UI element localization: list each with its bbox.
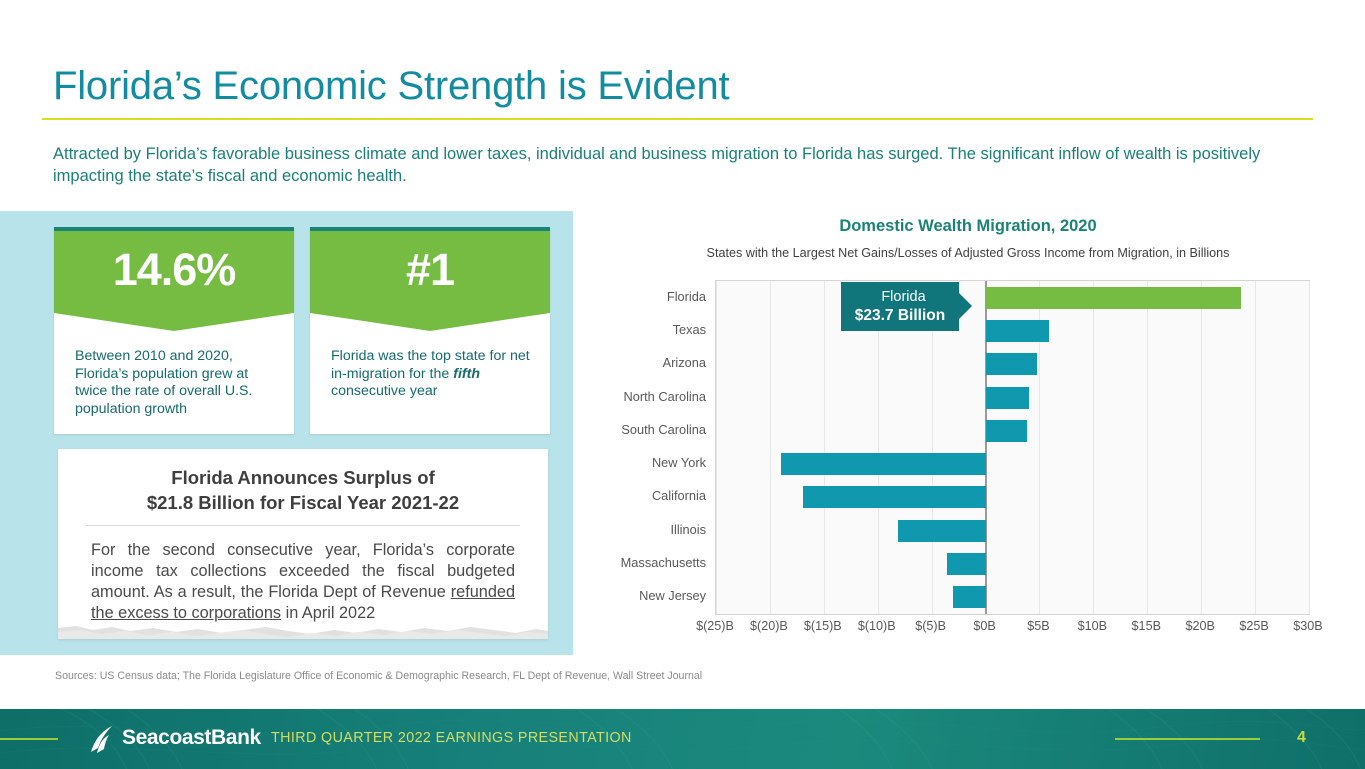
chart-category-labels: FloridaTexasArizonaNorth CarolinaSouth C… xyxy=(598,280,706,615)
stat-card-top-rule xyxy=(54,227,294,231)
chart-gridline xyxy=(1255,281,1256,614)
chart-bar xyxy=(986,420,1027,442)
chart-x-tick-label: $0B xyxy=(973,619,995,633)
surplus-body: For the second consecutive year, Florida… xyxy=(91,540,515,624)
page-subtitle: Attracted by Florida’s favorable busines… xyxy=(53,143,1273,187)
chart-x-tick-label: $(5)B xyxy=(915,619,946,633)
stat-card-rank: #1 Florida was the top state for net in-… xyxy=(310,227,550,434)
stat-description-prefix: Florida was the top state for net in-mig… xyxy=(331,348,530,382)
torn-paper-edge xyxy=(58,621,548,639)
stat-description-emphasis: fifth xyxy=(453,366,480,382)
chart-title: Domestic Wealth Migration, 2020 xyxy=(598,217,1338,236)
chart-x-tick-label: $(10)B xyxy=(858,619,896,633)
chart-plot-area xyxy=(715,280,1310,615)
stat-description-text: Between 2010 and 2020, Florida’s populat… xyxy=(75,348,252,417)
chart-bar xyxy=(947,553,986,575)
chart-x-tick-label: $(20)B xyxy=(750,619,788,633)
chart-x-tick-label: $20B xyxy=(1185,619,1214,633)
chart-gridline xyxy=(1201,281,1202,614)
chart-x-tick-label: $10B xyxy=(1078,619,1107,633)
chart-category-label: South Carolina xyxy=(621,422,706,437)
stat-description: Florida was the top state for net in-mig… xyxy=(331,348,536,401)
chart-category-label: Massachusetts xyxy=(621,555,706,570)
chart-gridline xyxy=(1309,281,1310,614)
seacoast-sail-logo-icon xyxy=(88,725,118,755)
florida-callout-line2: $23.7 Billion xyxy=(841,306,959,325)
stat-value: 14.6% xyxy=(113,247,236,292)
sources-note: Sources: US Census data; The Florida Leg… xyxy=(55,670,702,682)
chart-x-tick-label: $15B xyxy=(1132,619,1161,633)
chart-category-label: North Carolina xyxy=(623,389,706,404)
chart-bar xyxy=(986,320,1050,342)
chart-category-label: Illinois xyxy=(670,522,706,537)
chart-gridline xyxy=(770,281,771,614)
chart-x-tick-label: $5B xyxy=(1027,619,1049,633)
chart-category-label: Texas xyxy=(673,322,706,337)
chart-bar xyxy=(986,287,1242,309)
slide: Florida’s Economic Strength is Evident A… xyxy=(0,0,1365,769)
stat-card-population: 14.6% Between 2010 and 2020, Florida’s p… xyxy=(54,227,294,434)
chart-category-label: Florida xyxy=(667,289,706,304)
chart-x-tick-label: $(15)B xyxy=(804,619,842,633)
florida-callout-line1: Florida xyxy=(841,288,966,306)
chart-container: Domestic Wealth Migration, 2020 States w… xyxy=(598,210,1338,650)
stat-card-banner: #1 xyxy=(310,231,550,331)
chart-category-label: Arizona xyxy=(663,355,706,370)
left-highlight-panel: 14.6% Between 2010 and 2020, Florida’s p… xyxy=(0,211,573,655)
chart-x-tick-label: $(25)B xyxy=(696,619,734,633)
chart-gridline xyxy=(824,281,825,614)
chart-bar xyxy=(803,486,985,508)
title-divider xyxy=(42,118,1313,120)
surplus-body-suffix: in April 2022 xyxy=(281,604,375,622)
surplus-divider xyxy=(86,525,520,526)
chart-gridline xyxy=(716,281,717,614)
stat-description-suffix: consecutive year xyxy=(331,383,437,399)
footer-accent-rule-right xyxy=(1115,738,1260,740)
chart-bar xyxy=(953,586,985,608)
chart-category-label: California xyxy=(652,488,706,503)
stat-description: Between 2010 and 2020, Florida’s populat… xyxy=(75,348,280,418)
surplus-heading: Florida Announces Surplus of $21.8 Billi… xyxy=(78,465,528,515)
chart-bar xyxy=(898,520,985,542)
surplus-heading-line1: Florida Announces Surplus of xyxy=(78,465,528,490)
brand-name: SeacoastBank xyxy=(122,726,261,750)
chart-gridline xyxy=(1093,281,1094,614)
footer-caption: THIRD QUARTER 2022 EARNINGS PRESENTATION xyxy=(271,730,632,746)
page-title: Florida’s Economic Strength is Evident xyxy=(53,64,729,109)
stat-value: #1 xyxy=(406,247,454,292)
chart-category-label: New Jersey xyxy=(639,588,706,603)
stat-card-banner: 14.6% xyxy=(54,231,294,331)
page-number: 4 xyxy=(1297,729,1306,747)
surplus-heading-line2: $21.8 Billion for Fiscal Year 2021-22 xyxy=(78,490,528,515)
chart-bar xyxy=(986,387,1029,409)
chart-x-tick-label: $25B xyxy=(1239,619,1268,633)
chart-x-tick-label: $30B xyxy=(1293,619,1322,633)
chart-gridline xyxy=(1147,281,1148,614)
stat-card-top-rule xyxy=(310,227,550,231)
chart-subtitle: States with the Largest Net Gains/Losses… xyxy=(598,246,1338,260)
chart-bar xyxy=(986,353,1038,375)
chart-bar xyxy=(781,453,986,475)
chart-x-axis-labels: $(25)B$(20)B$(15)B$(10)B$(5)B$0B$5B$10B$… xyxy=(715,619,1310,643)
footer-accent-rule-left xyxy=(0,738,58,740)
surplus-card: Florida Announces Surplus of $21.8 Billi… xyxy=(58,449,548,639)
chart-category-label: New York xyxy=(652,455,706,470)
